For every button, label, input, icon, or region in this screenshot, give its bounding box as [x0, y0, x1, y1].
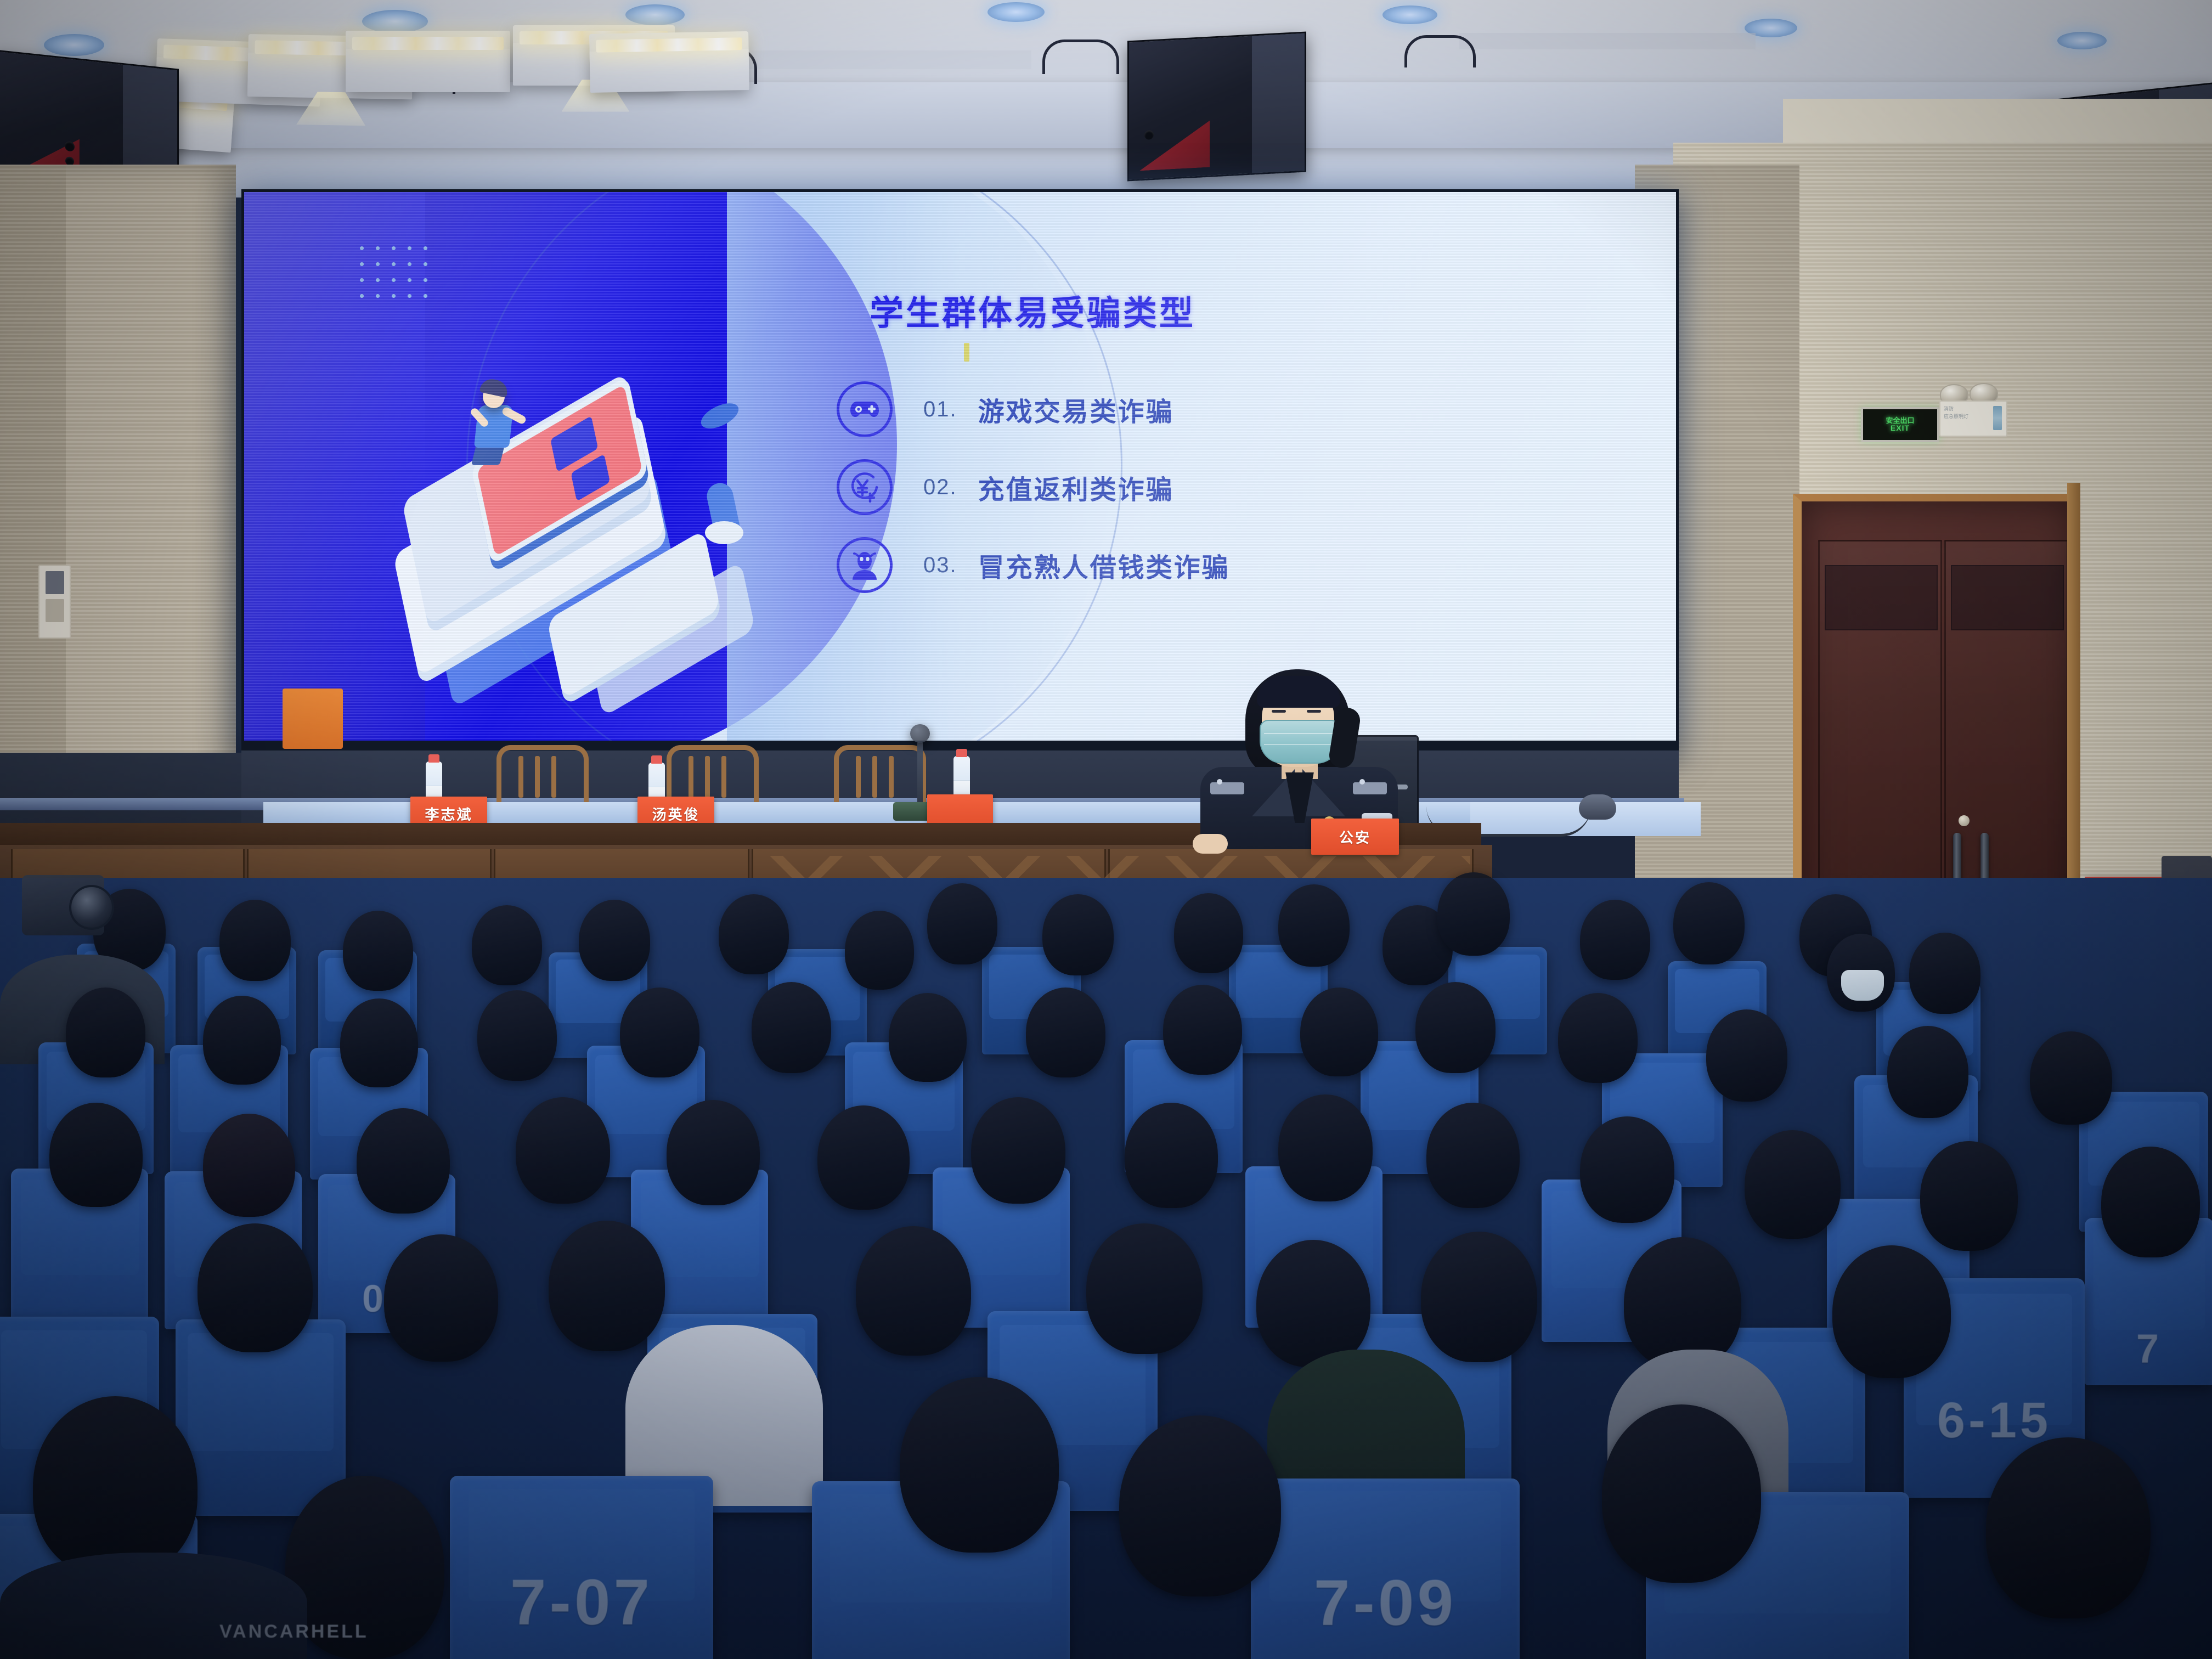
epaulet: [1210, 782, 1244, 794]
door-inlay: [1825, 565, 1938, 630]
audience-shoulders: [0, 1553, 307, 1659]
nameplate-text: 公安: [1339, 827, 1371, 847]
stage-chair: [496, 745, 579, 816]
audience-head: [667, 1100, 760, 1205]
slide-bullet-item: 01. 游戏交易类诈骗: [837, 370, 1632, 448]
audience-head: [549, 1221, 665, 1351]
face-mask: [1260, 720, 1340, 764]
chair-back: [496, 745, 589, 802]
slide-bullet-number: 02.: [923, 475, 957, 500]
audience-head: [219, 900, 291, 981]
audience-head: [1256, 1240, 1370, 1367]
audience-head: [384, 1234, 498, 1362]
audience-head: [1909, 933, 1980, 1014]
audience-head: [516, 1097, 610, 1204]
slide-title: 学生群体易受骗类型: [870, 285, 1195, 335]
auditorium-scene: 安全出口 EXIT 消防应急照明灯: [0, 0, 2212, 1659]
jacket-brand-text: VANCARHELL: [219, 1621, 369, 1643]
presentation-screen: 学生群体易受骗类型 01. 游戏交易类诈骗: [244, 192, 1676, 741]
emergency-light-strip: [1993, 406, 2002, 430]
ceiling-panel: [1459, 33, 1756, 49]
slide-bullet-label: 冒充熟人借钱类诈骗: [978, 546, 1230, 584]
ceiling-downlight: [362, 10, 428, 33]
slide-title-accent: [964, 343, 969, 362]
audience-head: [1437, 872, 1510, 956]
audience-head: [33, 1396, 198, 1577]
speaker-bolt: [1144, 130, 1154, 140]
audience-head: [1887, 1026, 1968, 1118]
audience-head: [856, 1226, 971, 1356]
slide-dot-grid: [354, 240, 434, 307]
audience-head: [1086, 1223, 1203, 1354]
audience-head: [579, 900, 650, 981]
audience-head: [1174, 893, 1243, 973]
ceiling-speaker: [1127, 31, 1306, 181]
audience-head: [1026, 988, 1105, 1077]
switch-toggle[interactable]: [46, 571, 64, 594]
chair-slat: [856, 756, 861, 798]
audience-head: [2101, 1147, 2200, 1257]
slide-bullet-item: 02. 充值返利类诈骗: [837, 448, 1632, 526]
eye: [1307, 710, 1321, 713]
audience-head: [1920, 1141, 2018, 1251]
audience-head: [719, 894, 789, 974]
barn-door: [346, 49, 510, 92]
computer-mouse[interactable]: [1579, 794, 1616, 820]
ceiling-downlight: [625, 4, 685, 25]
seat-number: 7: [2085, 1325, 2212, 1372]
audience-head: [927, 883, 997, 964]
emergency-light-box: 消防应急照明灯: [1939, 400, 2007, 437]
audience-head: [1986, 1437, 2151, 1618]
chair-slat: [721, 756, 726, 798]
iso-decoration: [697, 398, 742, 434]
uniform-pip: [1359, 779, 1365, 785]
uniform-pip: [1217, 779, 1222, 785]
audience-head: [198, 1223, 313, 1352]
audience-head: [1415, 982, 1496, 1073]
audience-head: [1163, 985, 1242, 1075]
hair-fringe: [1257, 676, 1340, 708]
epaulet: [1353, 782, 1387, 794]
audience-head: [203, 1114, 295, 1217]
audience-head: [477, 990, 557, 1081]
audience-head: [472, 905, 542, 985]
audience-head: [1745, 1130, 1841, 1239]
audience-head: [1832, 1245, 1951, 1378]
ceiling-cable: [1404, 35, 1476, 67]
bottle-cap: [428, 754, 439, 763]
audience-head: [340, 998, 418, 1087]
bottle-label: [953, 780, 970, 794]
audience-head: [1706, 1009, 1787, 1102]
wall-switch-plate: [38, 565, 71, 639]
ceiling-downlight: [1383, 5, 1437, 24]
slide-bullet-item: 03. 冒充熟人借钱类诈骗: [837, 526, 1632, 604]
audience-head: [66, 988, 145, 1077]
face-mask: [1841, 970, 1884, 1001]
chair-slat: [518, 756, 523, 798]
microphone-head: [910, 724, 930, 743]
camera-lens: [69, 885, 114, 930]
bottle-cap: [956, 749, 967, 757]
slide-bullet-number: 03.: [923, 553, 957, 578]
audience-head: [1426, 1103, 1520, 1208]
ceiling-downlight: [2057, 32, 2107, 49]
iso-phone-key: [571, 454, 610, 501]
led-screen-frame: 学生群体易受骗类型 01. 游戏交易类诈骗: [241, 189, 1679, 754]
yen-plus-icon: [837, 459, 893, 515]
led-strip: [596, 37, 742, 53]
audience-head: [1580, 1116, 1674, 1223]
audience-head: [1042, 894, 1114, 975]
audience-head: [752, 982, 831, 1073]
audience-head: [971, 1097, 1065, 1204]
iso-person: [465, 377, 526, 471]
audience-head: [1580, 900, 1650, 980]
audience-seat[interactable]: 7-07: [450, 1476, 713, 1659]
audience-seat[interactable]: 7-09: [1251, 1479, 1520, 1659]
audience-head: [49, 1103, 143, 1207]
nameplate-police: 公安: [1311, 819, 1399, 855]
slide-bullet-number: 01.: [923, 397, 957, 422]
audience-head: [620, 988, 699, 1077]
nameplate-text: 李志斌: [425, 804, 472, 824]
chair-slat: [551, 756, 556, 798]
audience-head: [1624, 1237, 1741, 1369]
iso-decoration: [705, 521, 743, 544]
ceiling-cable: [1042, 39, 1119, 74]
audience-head: [900, 1377, 1059, 1553]
chair-slat: [889, 756, 894, 798]
emergency-light-label: 消防应急照明灯: [1944, 405, 1968, 420]
audience-head: [357, 1108, 450, 1214]
slide-bullet-label: 游戏交易类诈骗: [978, 390, 1174, 428]
slide-isometric-illustration: [326, 357, 782, 675]
speaker-face: [1252, 33, 1305, 173]
audience-head: [1278, 884, 1350, 967]
audience-head: [1125, 1103, 1218, 1208]
audience-head: [1673, 882, 1745, 964]
audience-head: [203, 996, 281, 1085]
camera[interactable]: [22, 875, 104, 935]
audience-head: [1421, 1232, 1537, 1362]
chair-back: [667, 745, 759, 802]
imposter-icon: [837, 537, 893, 593]
chair-slat: [535, 756, 540, 798]
audience-head: [889, 993, 967, 1082]
switch-toggle[interactable]: [46, 599, 64, 622]
audience-head: [845, 911, 914, 990]
chair-slat: [872, 756, 877, 798]
barn-door: [590, 48, 749, 93]
audience-head: [343, 911, 413, 991]
nameplate-text: 汤英俊: [652, 804, 699, 824]
gamepad-icon: [837, 381, 893, 437]
chair-slat: [705, 756, 710, 798]
audience-head: [1278, 1094, 1373, 1201]
microphone-stand: [917, 741, 923, 806]
speaker-logo: [1139, 121, 1210, 171]
door-inlay: [1951, 565, 2064, 630]
exit-sign-en: EXIT: [1886, 424, 1914, 432]
ceiling-downlight: [988, 2, 1045, 22]
slide-bullet-list: 01. 游戏交易类诈骗: [837, 370, 1632, 604]
ceiling-downlight: [44, 34, 104, 56]
seat-number: 7-07: [450, 1565, 713, 1640]
hand: [1193, 834, 1228, 854]
door-lock[interactable]: [1959, 815, 1970, 826]
audience-head: [817, 1105, 910, 1210]
stage-light-fixture: [346, 31, 510, 91]
led-strip: [352, 37, 504, 50]
slide-bullet-label: 充值返利类诈骗: [978, 468, 1174, 506]
audience-head: [1602, 1404, 1761, 1583]
audience-head: [1558, 993, 1638, 1083]
audience-head: [2030, 1031, 2112, 1125]
exit-sign-text: 安全出口 EXIT: [1886, 417, 1914, 432]
audience-head: [1119, 1415, 1281, 1596]
bottle-cap: [651, 755, 662, 764]
chair-back: [834, 745, 926, 802]
exit-sign: 安全出口 EXIT: [1861, 407, 1939, 442]
chair-slat: [689, 756, 693, 798]
seat-number: 7-09: [1251, 1566, 1520, 1640]
slide-orange-accent: [283, 689, 343, 749]
stage-light-fixture: [589, 31, 749, 92]
eye: [1272, 710, 1286, 713]
audience-head: [1300, 988, 1378, 1076]
